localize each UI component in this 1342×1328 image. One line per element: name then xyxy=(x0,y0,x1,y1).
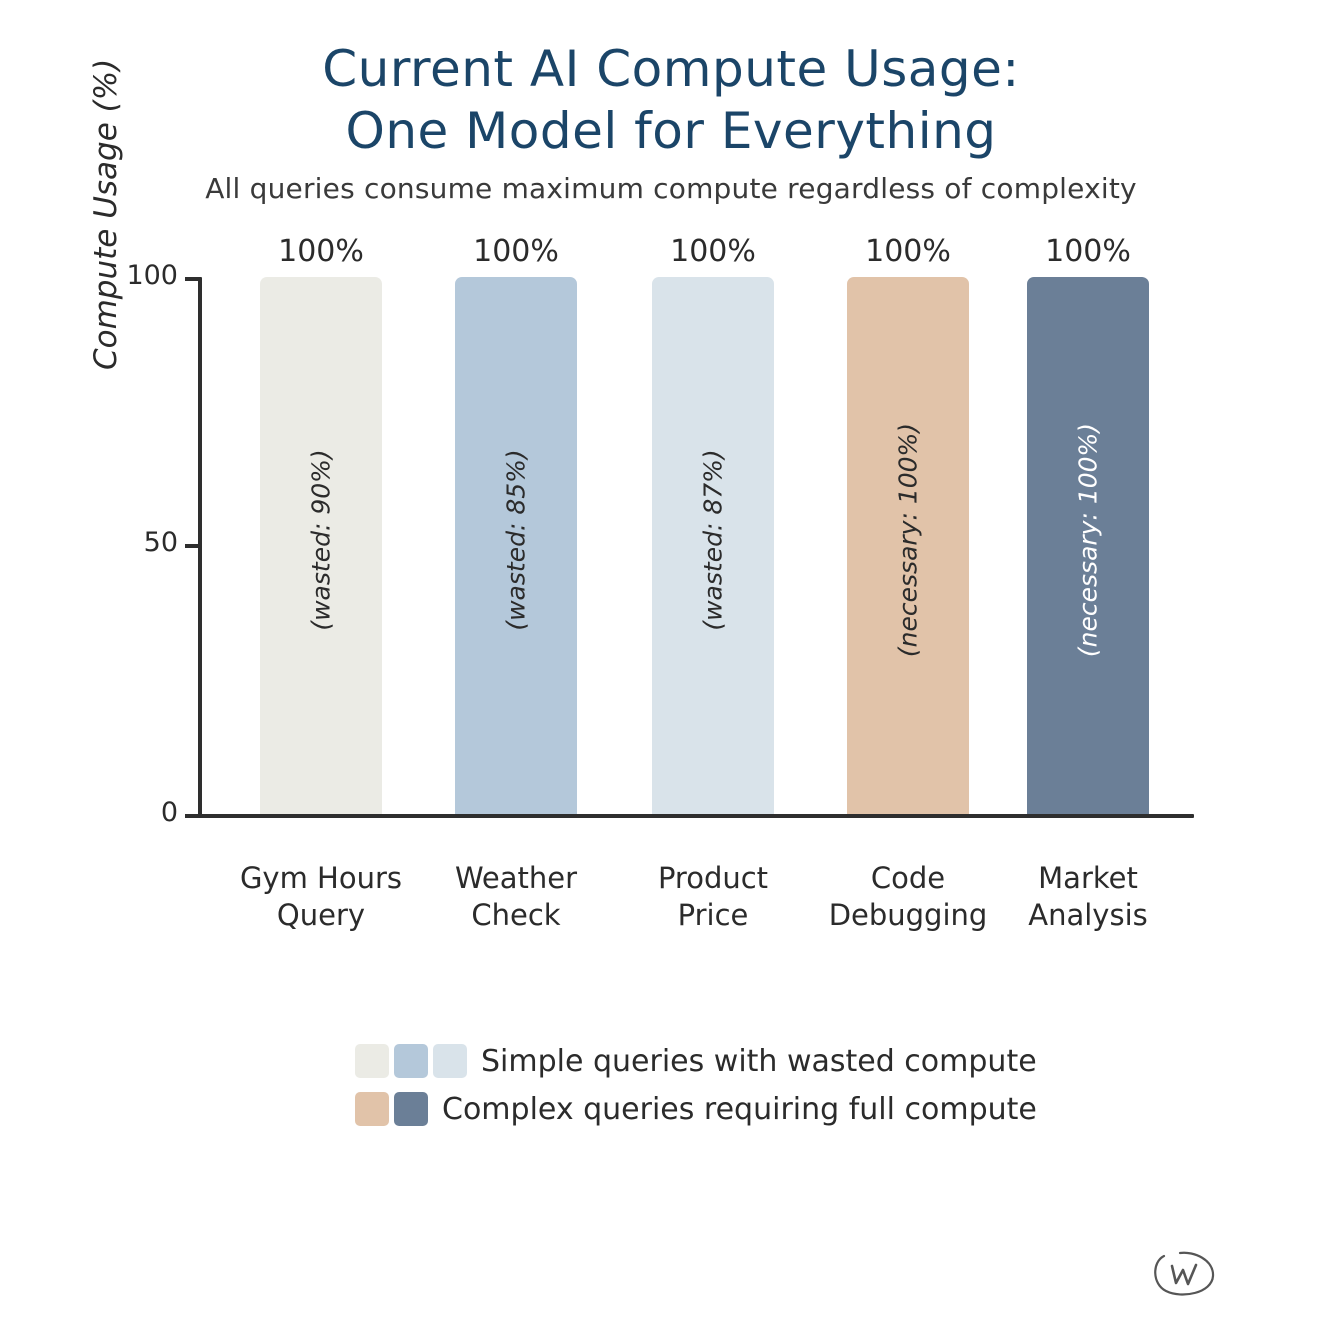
bar-group[interactable]: 100%(necessary: 100%) xyxy=(847,277,969,814)
x-tick-label-line: Gym Hours xyxy=(211,860,431,897)
bar-value-label: 100% xyxy=(1045,234,1131,269)
legend-item-complex[interactable]: Complex queries requiring full compute xyxy=(355,1086,1037,1132)
bar-value-label: 100% xyxy=(865,234,951,269)
x-tick-label-line: Price xyxy=(603,897,823,934)
y-tick-0 xyxy=(185,814,200,818)
bar-value-label: 100% xyxy=(278,234,364,269)
bar-annotation-label: (wasted: 85%) xyxy=(502,449,531,630)
chart-legend: Simple queries with wasted compute Compl… xyxy=(355,1038,1037,1134)
y-axis-label: Compute Usage (%) xyxy=(88,59,124,370)
y-tick-50 xyxy=(185,544,200,548)
legend-swatch-tan xyxy=(355,1092,389,1126)
y-tick-label-0: 0 xyxy=(58,797,178,828)
chart-title-line-1: Current AI Compute Usage: xyxy=(0,38,1342,100)
bar-group[interactable]: 100%(necessary: 100%) xyxy=(1027,277,1149,814)
x-axis-spine xyxy=(186,814,1194,818)
bar-annotation-label: (necessary: 100%) xyxy=(894,423,923,657)
x-tick-label: WeatherCheck xyxy=(406,860,626,934)
x-tick-label-line: Product xyxy=(603,860,823,897)
bar-annotation-label: (necessary: 100%) xyxy=(1074,423,1103,657)
x-tick-label-line: Market xyxy=(978,860,1198,897)
chart-title-line-2: One Model for Everything xyxy=(0,100,1342,162)
legend-swatch-pale-blue xyxy=(433,1044,467,1078)
x-tick-label: ProductPrice xyxy=(603,860,823,934)
x-tick-label-line: Weather xyxy=(406,860,626,897)
y-tick-label-50: 50 xyxy=(58,527,178,558)
legend-swatch-steel-blue xyxy=(394,1044,428,1078)
legend-label-complex: Complex queries requiring full compute xyxy=(442,1092,1037,1127)
legend-label-simple: Simple queries with wasted compute xyxy=(481,1044,1037,1079)
chart-subtitle: All queries consume maximum compute rega… xyxy=(0,172,1342,205)
x-tick-label: MarketAnalysis xyxy=(978,860,1198,934)
x-tick-label-line: Check xyxy=(406,897,626,934)
legend-swatches-simple xyxy=(355,1044,472,1078)
bar-value-label: 100% xyxy=(670,234,756,269)
bar-group[interactable]: 100%(wasted: 87%) xyxy=(652,277,774,814)
bar-annotation-label: (wasted: 90%) xyxy=(307,449,336,630)
watermark-logo xyxy=(1150,1246,1220,1308)
bar-group[interactable]: 100%(wasted: 85%) xyxy=(455,277,577,814)
x-tick-label-line: Analysis xyxy=(978,897,1198,934)
legend-item-simple[interactable]: Simple queries with wasted compute xyxy=(355,1038,1037,1084)
chart-title: Current AI Compute Usage: One Model for … xyxy=(0,38,1342,162)
legend-swatch-slate xyxy=(394,1092,428,1126)
x-tick-label: Gym HoursQuery xyxy=(211,860,431,934)
x-tick-label-line: Query xyxy=(211,897,431,934)
bar-value-label: 100% xyxy=(473,234,559,269)
plot-area: 100 50 0 100%(wasted: 90%)100%(wasted: 8… xyxy=(200,277,1208,816)
legend-swatch-cream xyxy=(355,1044,389,1078)
legend-swatches-complex xyxy=(355,1092,433,1126)
bar-group[interactable]: 100%(wasted: 90%) xyxy=(260,277,382,814)
y-tick-100 xyxy=(185,277,200,281)
bar-annotation-label: (wasted: 87%) xyxy=(699,449,728,630)
